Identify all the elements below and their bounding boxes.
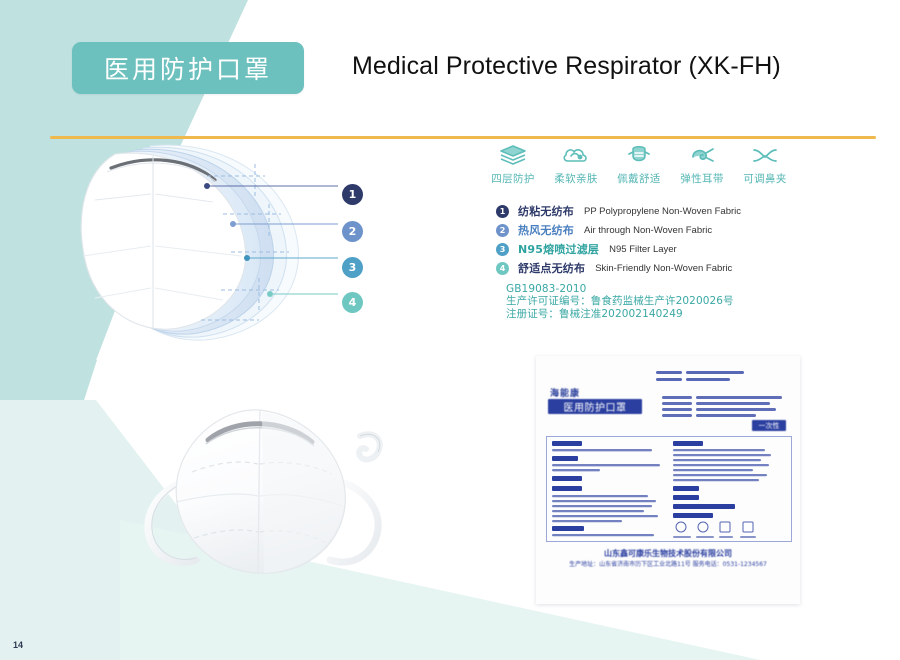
legend-label-cn: N95熔喷过滤层: [518, 241, 599, 257]
cloud-soft-icon: [561, 144, 591, 168]
legend-number-badge: 2: [496, 224, 509, 237]
package-product-title: 医用防护口罩: [548, 399, 642, 414]
legend-row: 2 热风无纺布 Air through Non-Woven Fabric: [496, 221, 796, 239]
feature-item-elastic-earloop: 弹性耳带: [673, 144, 731, 186]
feature-item-comfortable-wear: 佩戴舒适: [610, 144, 668, 186]
mask-product-photo: [88, 378, 418, 618]
face-mask-icon: [624, 144, 654, 168]
package-company-name: 山东鑫可康乐生物技术股份有限公司: [536, 548, 800, 559]
feature-item-soft-skin: 柔软亲肤: [547, 144, 605, 186]
callout-dot-3: [244, 255, 250, 261]
legend-row: 4 舒适点无纺布 Skin-Friendly Non-Woven Fabric: [496, 259, 796, 277]
page-title-english: Medical Protective Respirator (XK-FH): [352, 52, 781, 81]
mask-cross-section-illustration: [55, 128, 385, 358]
feature-label: 弹性耳带: [680, 171, 724, 186]
feature-highlights-row: 四层防护 柔软亲肤 佩戴舒适: [484, 140, 794, 186]
package-instruction-text: [547, 437, 791, 541]
feature-item-adjustable-noseclip: 可调鼻夹: [736, 144, 794, 186]
package-instruction-panel: [546, 436, 792, 542]
feature-label: 佩戴舒适: [617, 171, 661, 186]
callout-dot-4: [267, 291, 273, 297]
package-type-tag: 一次性: [752, 420, 786, 431]
feature-label: 四层防护: [491, 171, 535, 186]
callout-badge-2: 2: [342, 221, 363, 242]
feature-label: 可调鼻夹: [743, 171, 787, 186]
legend-label-cn: 纺粘无纺布: [518, 203, 574, 219]
layers-icon: [498, 144, 528, 168]
callout-badge-4: 4: [342, 292, 363, 313]
legend-label-en: Skin-Friendly Non-Woven Fabric: [595, 263, 732, 274]
layer-legend-list: 1 纺粘无纺布 PP Polypropylene Non-Woven Fabri…: [496, 202, 796, 278]
nose-clip-icon: [750, 144, 780, 168]
mask-layer-diagram: [55, 128, 385, 358]
legend-label-en: PP Polypropylene Non-Woven Fabric: [584, 206, 741, 217]
legend-number-badge: 3: [496, 243, 509, 256]
legend-row: 1 纺粘无纺布 PP Polypropylene Non-Woven Fabri…: [496, 202, 796, 220]
certification-block: GB19083-2010 生产许可证编号：鲁食药监械生产许2020026号 注册…: [506, 283, 734, 320]
title-badge-label: 医用防护口罩: [104, 50, 272, 86]
package-photo: 海能康 医用防护口罩 一次性: [536, 356, 800, 604]
legend-label-cn: 热风无纺布: [518, 222, 574, 238]
legend-label-en: Air through Non-Woven Fabric: [584, 225, 712, 236]
title-badge: 医用防护口罩: [72, 42, 304, 94]
feature-label: 柔软亲肤: [554, 171, 598, 186]
callout-badge-1: 1: [342, 184, 363, 205]
product-spec-page: 医用防护口罩 Medical Protective Respirator (XK…: [0, 0, 900, 660]
legend-row: 3 N95熔喷过滤层 N95 Filter Layer: [496, 240, 796, 258]
package-company-address: 生产地址：山东省济南市历下区工业北路11号 服务电话：0531-1234567: [536, 559, 800, 568]
package-brand-name: 海能康: [550, 386, 580, 399]
legend-number-badge: 1: [496, 205, 509, 218]
production-license: 生产许可证编号：鲁食药监械生产许2020026号: [506, 295, 734, 307]
callout-dot-2: [230, 221, 236, 227]
registration-number: 注册证号：鲁械注准202002140249: [506, 308, 734, 320]
page-number: 14: [13, 640, 23, 650]
ear-loop-icon: [687, 144, 717, 168]
package-spec-text-block: [656, 368, 784, 394]
legend-number-badge: 4: [496, 262, 509, 275]
package-front-label: 海能康 医用防护口罩 一次性: [536, 356, 800, 604]
package-license-text-block: [662, 396, 786, 422]
legend-label-en: N95 Filter Layer: [609, 244, 677, 255]
diagram-callout-badges: 1 2 3 4: [338, 180, 378, 310]
callout-dot-1: [204, 183, 210, 189]
kn95-mask-illustration: [88, 378, 418, 618]
feature-item-four-layer: 四层防护: [484, 144, 542, 186]
legend-label-cn: 舒适点无纺布: [518, 260, 585, 276]
standard-number: GB19083-2010: [506, 283, 734, 295]
callout-badge-3: 3: [342, 257, 363, 278]
